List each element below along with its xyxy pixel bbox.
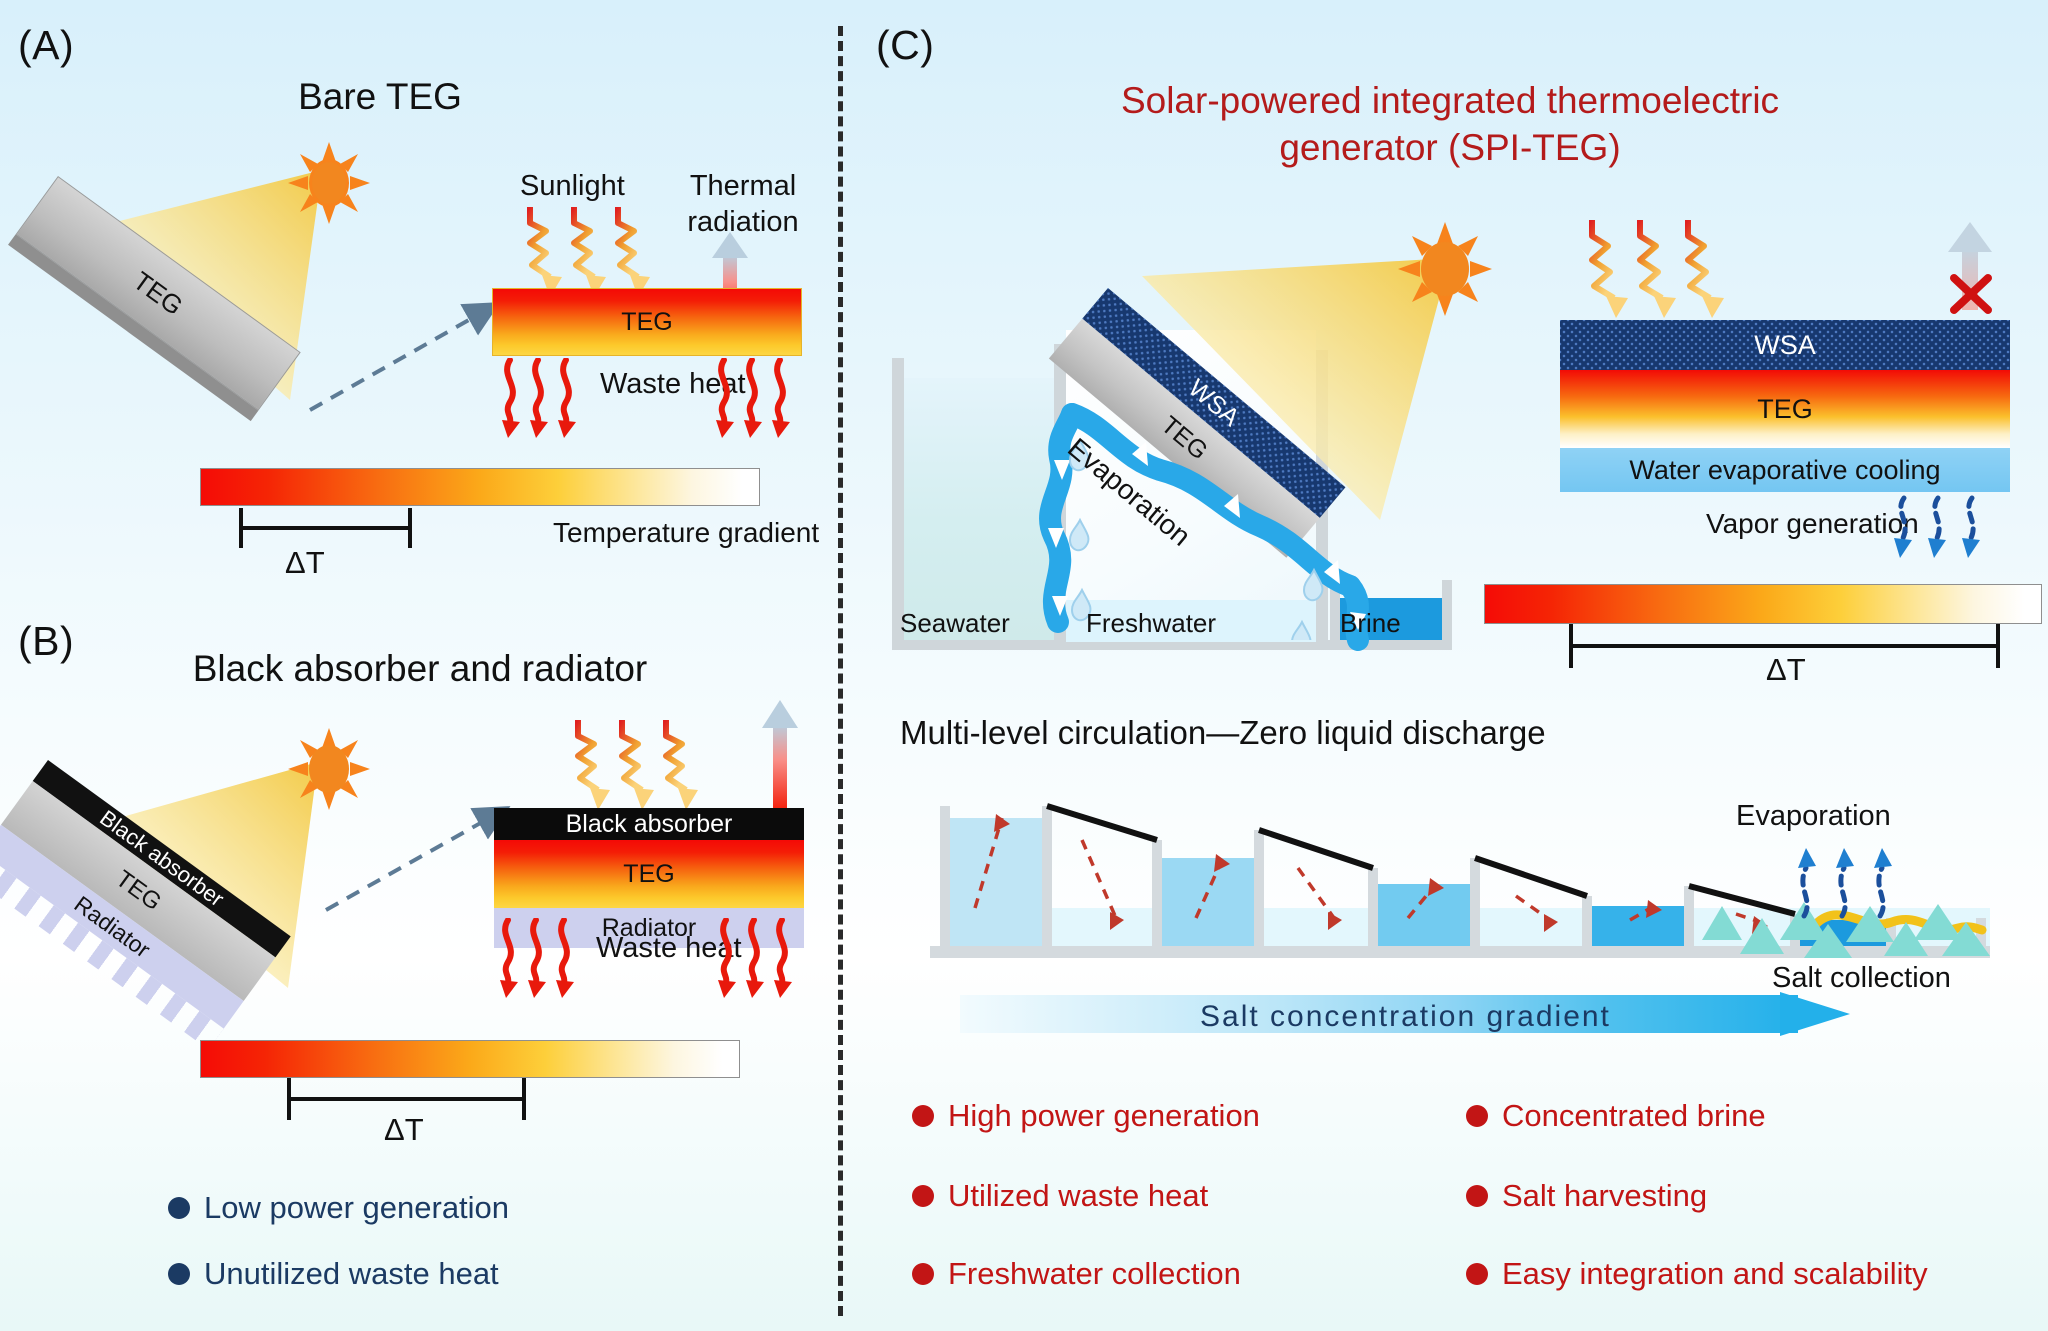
panel-c-bullet-right-0: Concentrated brine — [1466, 1098, 1766, 1134]
panel-divider — [838, 26, 843, 1316]
panel-b-letter: (B) — [18, 618, 74, 665]
panel-c-title: Solar-powered integrated thermoelectric … — [1000, 78, 1900, 171]
panel-b-waste-heat-left-icon — [496, 918, 588, 1000]
panel-a-letter: (A) — [18, 22, 74, 69]
bullet-dot-icon — [912, 1263, 934, 1285]
panel-a-sun-icon — [288, 142, 370, 224]
panel-c-bullet-left-0: High power generation — [912, 1098, 1260, 1134]
panel-c-title-line-1: Solar-powered integrated thermoelectric — [1000, 78, 1900, 125]
panel-b-delta-t-label: ΔT — [384, 1112, 424, 1148]
panel-c-blocked-thermal-radiation-icon — [1944, 222, 1998, 320]
panel-a-sunlight-label: Sunlight — [520, 170, 625, 203]
panel-b-black-absorber-label: Black absorber — [566, 810, 733, 839]
panel-c-colorbar — [1484, 584, 2042, 624]
bullet-dot-icon — [168, 1263, 190, 1285]
panel-c-bullet-right-label-1: Salt harvesting — [1502, 1178, 1707, 1214]
panel-a-teg-layer-label: TEG — [621, 308, 672, 337]
panel-c-bullet-right-label-2: Easy integration and scalability — [1502, 1256, 1928, 1292]
panel-c-bullet-left-label-2: Freshwater collection — [948, 1256, 1241, 1292]
panel-c-stack-cooling-label: Water evaporative cooling — [1629, 455, 1940, 486]
salt-gradient-arrowhead-icon — [1780, 988, 1870, 1040]
panel-c-title-line-2: generator (SPI-TEG) — [1000, 125, 1900, 172]
panel-b-thermal-arrow-icon — [760, 700, 800, 812]
panel-c-stack-wsa-label: WSA — [1754, 330, 1816, 361]
panel-c-brine-label: Brine — [1340, 608, 1401, 639]
panel-b-bullet-label-1: Unutilized waste heat — [204, 1256, 499, 1292]
panel-b-teg-label: TEG — [623, 860, 674, 889]
panel-c-salt-evaporation-arrows-icon — [1790, 838, 1910, 922]
panel-a-waste-heat-right-icon — [712, 358, 804, 440]
panel-c-salt-gradient-arrow: Salt concentration gradient — [960, 988, 1860, 1040]
panel-c-stack-teg-label: TEG — [1757, 394, 1813, 425]
panel-c-seawater-tank-wall-left — [892, 358, 904, 648]
panel-c-vapor-generation-label: Vapor generation — [1706, 508, 1919, 540]
panel-a-title: Bare TEG — [170, 76, 590, 118]
panel-c-bullet-right-label-0: Concentrated brine — [1502, 1098, 1766, 1134]
panel-c-circulation-title: Multi-level circulation—Zero liquid disc… — [900, 714, 1546, 752]
panel-b-waste-heat-right-icon — [714, 918, 806, 1000]
panel-b-bullet-1: Unutilized waste heat — [168, 1256, 499, 1292]
panel-b-colorbar — [200, 1040, 740, 1078]
panel-c-freshwater-label: Freshwater — [1086, 608, 1216, 639]
panel-c-seawater-label: Seawater — [900, 608, 1010, 639]
bullet-dot-icon — [912, 1185, 934, 1207]
panel-c-salt-gradient-label: Salt concentration gradient — [1200, 1000, 1611, 1034]
bullet-dot-icon — [1466, 1263, 1488, 1285]
panel-a-connector-arrow — [300, 290, 510, 420]
panel-c-sun-icon — [1398, 222, 1492, 316]
panel-c-layer-stack: WSA TEG Water evaporative cooling — [1560, 320, 2010, 492]
panel-c-vapor-arrows-icon — [1890, 492, 2000, 572]
panel-c-bullet-left-2: Freshwater collection — [912, 1256, 1241, 1292]
bullet-dot-icon — [1466, 1105, 1488, 1127]
panel-c-bullet-right-2: Easy integration and scalability — [1466, 1256, 1928, 1292]
panel-b-bullet-0: Low power generation — [168, 1190, 509, 1226]
panel-a-colorbar-caption: Temperature gradient — [553, 517, 819, 549]
panel-a-teg-layer: TEG — [492, 288, 802, 356]
panel-c-bullet-left-1: Utilized waste heat — [912, 1178, 1208, 1214]
thermal-radiation-line-1: Thermal — [648, 168, 838, 204]
panel-b-title: Black absorber and radiator — [70, 648, 770, 690]
bullet-dot-icon — [912, 1105, 934, 1127]
panel-c-droplets-icon — [1050, 400, 1370, 640]
bullet-dot-icon — [168, 1197, 190, 1219]
panel-b-connector-arrow — [318, 790, 518, 920]
panel-c-bullet-left-label-0: High power generation — [948, 1098, 1260, 1134]
panel-a-slab-label: TEG — [127, 265, 188, 321]
panel-a-waste-heat-left-icon — [498, 358, 590, 440]
panel-c-salt-evaporation-label: Evaporation — [1736, 800, 1891, 833]
panel-a-colorbar — [200, 468, 760, 506]
panel-a-delta-t-label: ΔT — [285, 545, 325, 581]
panel-a-thermal-radiation-label: Thermal radiation — [648, 168, 838, 241]
panel-c-bullet-right-1: Salt harvesting — [1466, 1178, 1707, 1214]
panel-c-letter: (C) — [876, 22, 934, 69]
panel-a-delta-bracket — [238, 508, 438, 550]
panel-b-bullet-label-0: Low power generation — [204, 1190, 509, 1226]
panel-c-brine-wall-right — [1442, 580, 1452, 648]
panel-c-bullet-left-label-1: Utilized waste heat — [948, 1178, 1208, 1214]
bullet-dot-icon — [1466, 1185, 1488, 1207]
panel-c-delta-t-label: ΔT — [1766, 652, 1806, 688]
